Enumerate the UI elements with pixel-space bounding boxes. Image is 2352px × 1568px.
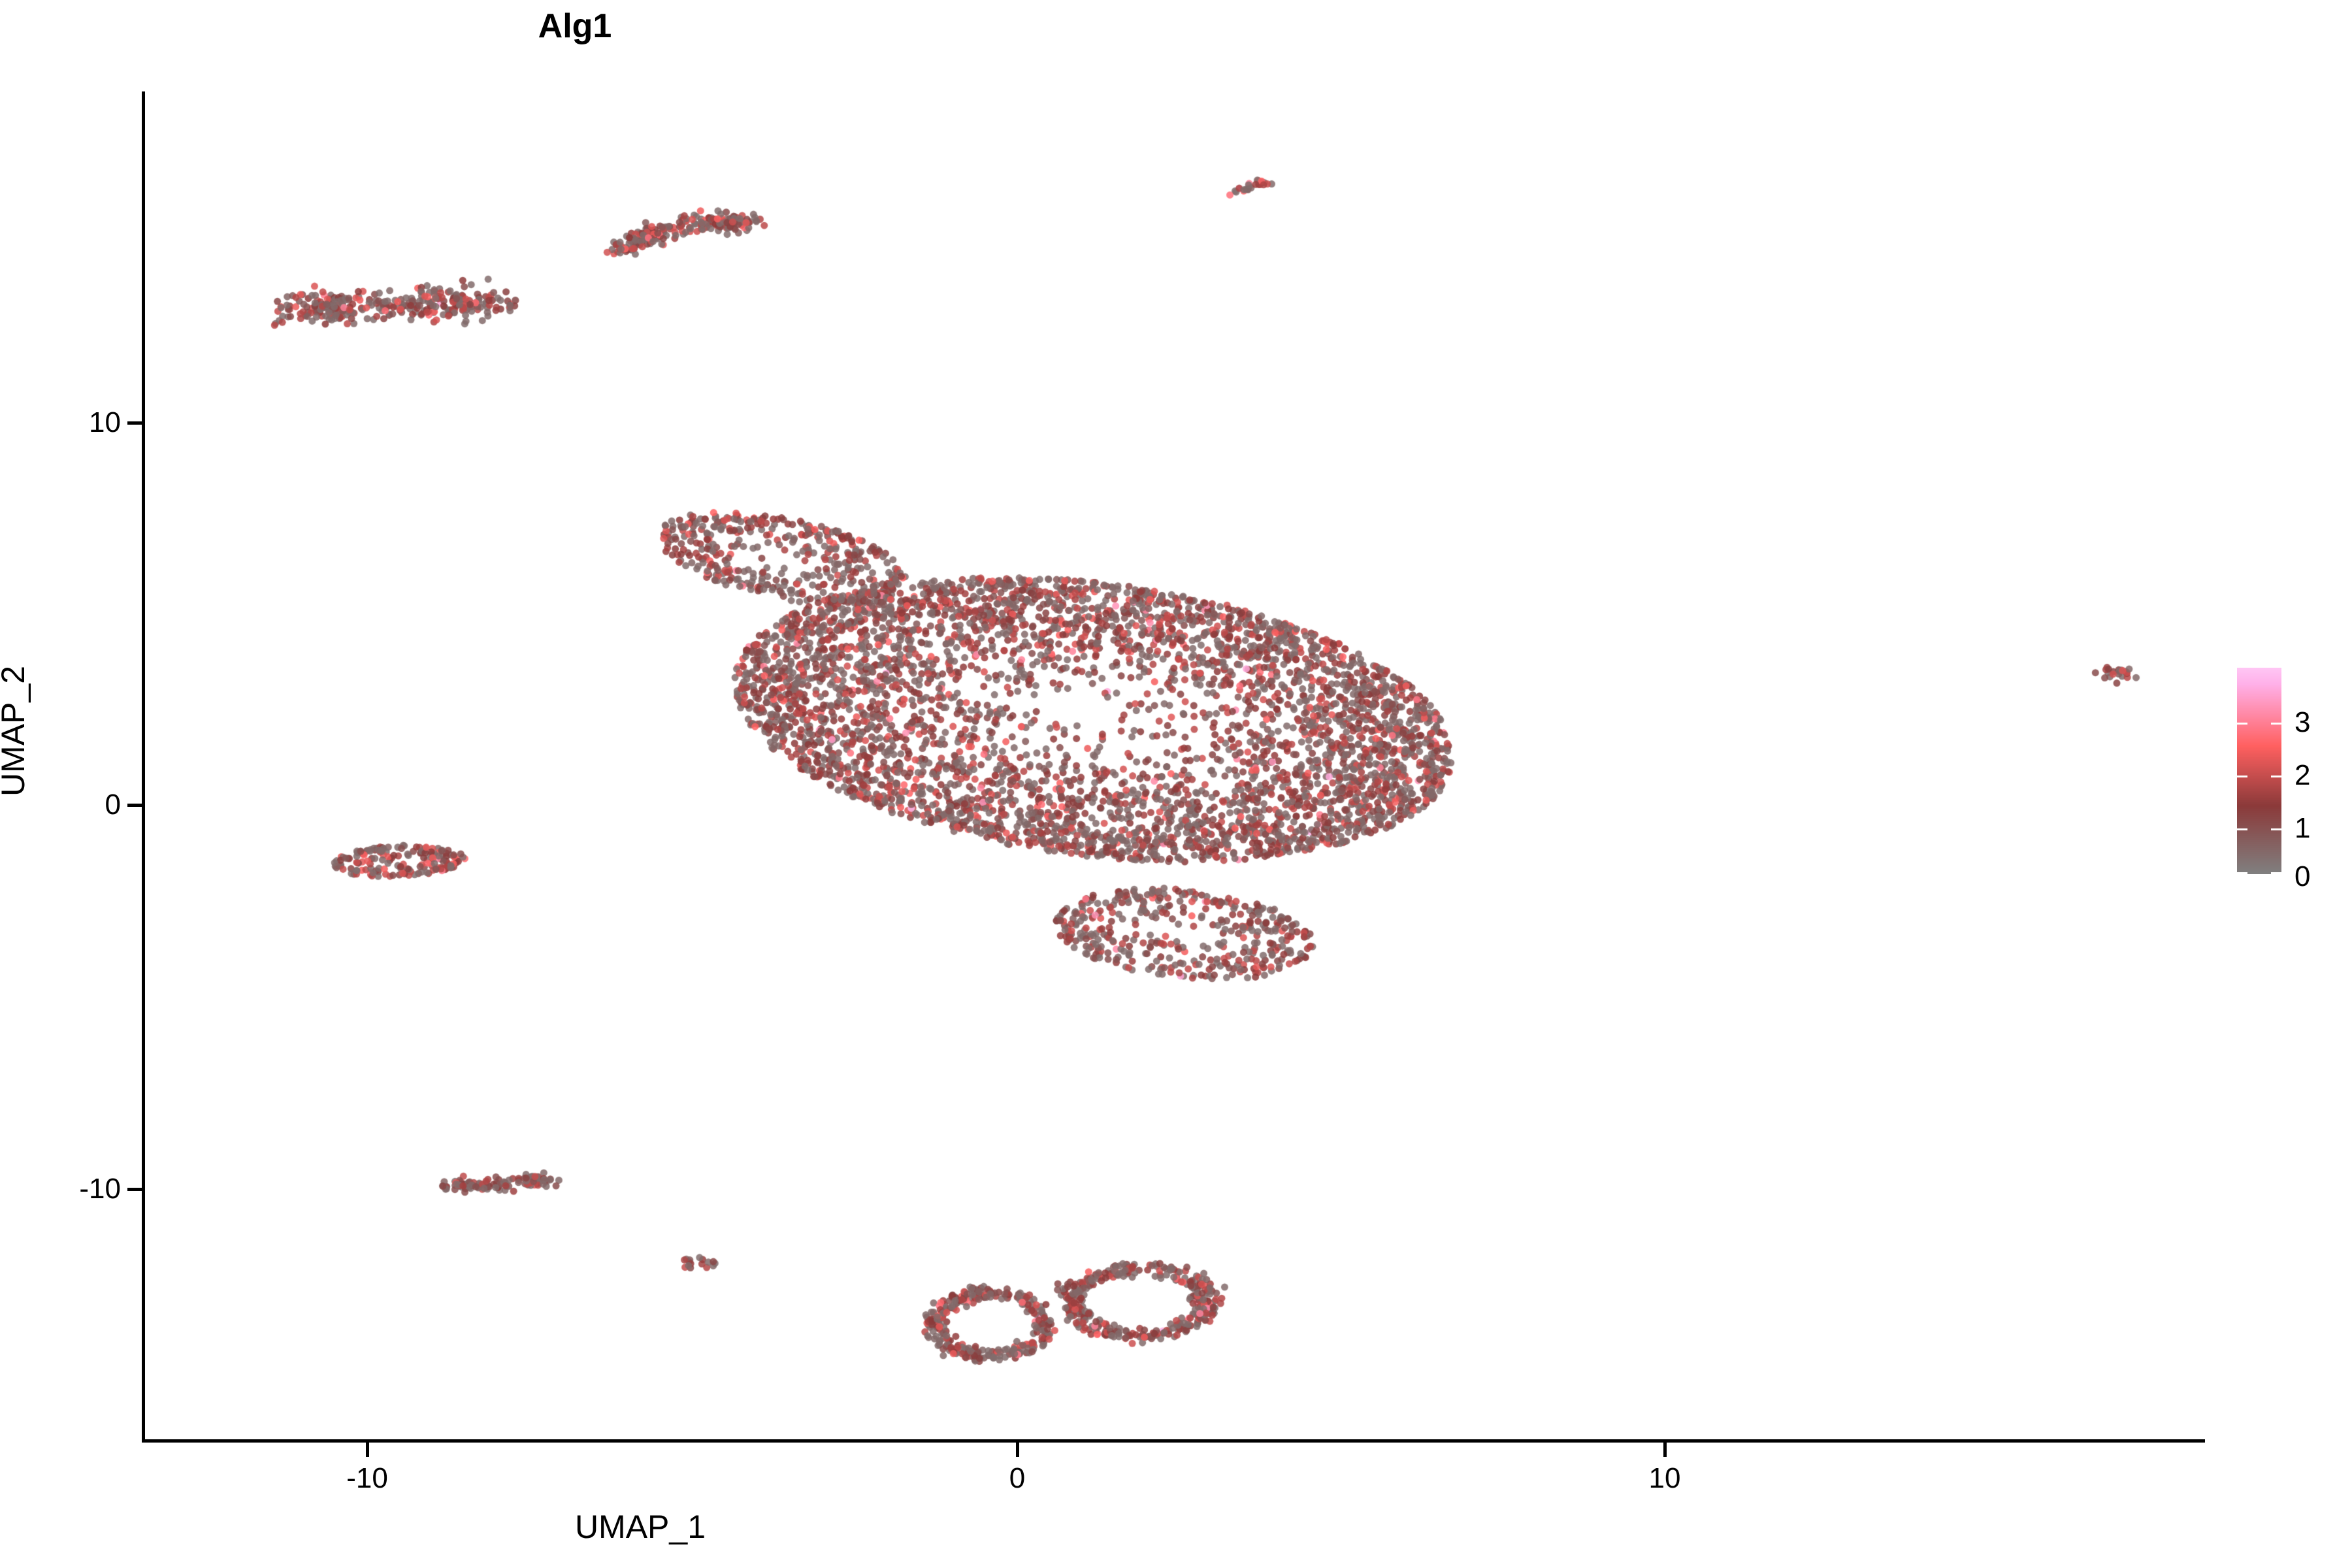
legend-tick-3-left [2237, 723, 2247, 725]
legend-tick-0-left [2237, 872, 2247, 874]
x-tick-mark-10 [1663, 1443, 1667, 1457]
x-tick-mark-0 [1016, 1443, 1019, 1457]
x-axis-title: UMAP_1 [0, 1508, 1816, 1546]
y-tick-mark-0 [127, 804, 142, 807]
y-tick-label-10: 10 [89, 406, 121, 439]
legend-label-1: 1 [2295, 812, 2310, 845]
legend-tick-0-right [2271, 872, 2281, 874]
y-tick-label-neg10: -10 [79, 1173, 121, 1205]
legend-colorbar[interactable] [2237, 668, 2281, 874]
plot-title: Alg1 [0, 7, 1751, 46]
legend-tick-1-right [2271, 828, 2281, 830]
scatter-panel[interactable] [142, 91, 2204, 1441]
y-axis-line [142, 91, 145, 1443]
legend-tick-2-right [2271, 776, 2281, 777]
legend-label-2: 2 [2295, 759, 2310, 792]
legend-tick-3-right [2271, 723, 2281, 725]
color-legend[interactable]: 3 2 1 0 [2237, 668, 2335, 877]
legend-tick-2-left [2237, 776, 2247, 777]
y-tick-label-0: 0 [105, 789, 121, 821]
x-tick-label-neg10: -10 [346, 1462, 388, 1495]
x-tick-mark-neg10 [366, 1443, 369, 1457]
legend-label-0: 0 [2295, 860, 2310, 893]
scatter-points-canvas[interactable] [142, 91, 2204, 1441]
x-tick-label-10: 10 [1649, 1462, 1681, 1495]
feature-plot-root: Alg1 10 0 -10 -10 0 10 UMAP_1 UMAP_2 3 2… [0, 0, 2352, 1568]
y-tick-mark-neg10 [127, 1188, 142, 1191]
legend-tick-1-left [2237, 828, 2247, 830]
x-axis-line [142, 1439, 2205, 1443]
y-tick-mark-10 [127, 421, 142, 425]
x-tick-label-0: 0 [1009, 1462, 1025, 1495]
legend-label-3: 3 [2295, 706, 2310, 739]
y-axis-title: UMAP_2 [0, 404, 32, 1058]
